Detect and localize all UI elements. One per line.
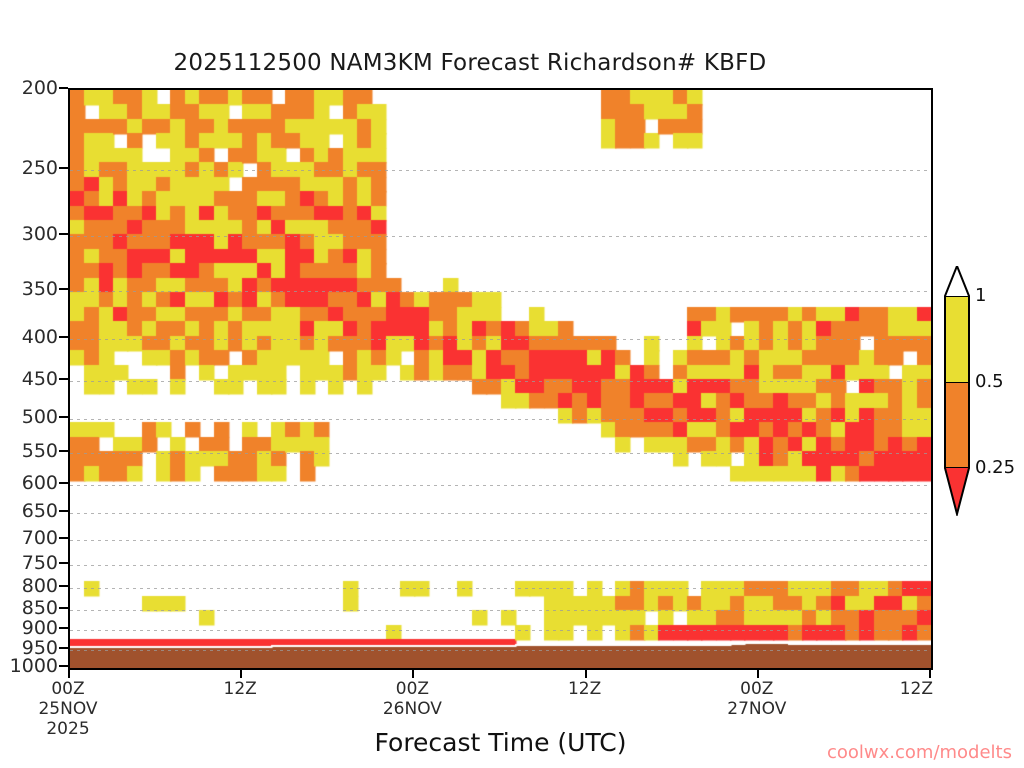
x-axis-tick-label-time: 12Z bbox=[900, 679, 933, 699]
y-axis-tick-mark bbox=[59, 562, 68, 564]
colorbar-label-1: 1 bbox=[975, 285, 986, 306]
y-axis-tick-label: 650 bbox=[22, 500, 58, 522]
x-axis-tick-mark bbox=[412, 670, 414, 678]
chart-title: 2025112500 NAM3KM Forecast Richardson# K… bbox=[0, 50, 940, 76]
x-axis-tick-mark bbox=[68, 670, 70, 678]
gridline-400 bbox=[70, 339, 931, 340]
gridline-950 bbox=[70, 650, 931, 651]
gridline-250 bbox=[70, 170, 931, 171]
colorbar-arrow-below-min bbox=[944, 468, 970, 514]
x-axis-tick-label-date: 25NOV bbox=[38, 699, 97, 719]
y-axis-tick-mark bbox=[59, 665, 68, 667]
y-axis-tick-label: 550 bbox=[22, 440, 58, 462]
x-axis-tick-mark bbox=[757, 670, 759, 678]
gridline-350 bbox=[70, 291, 931, 292]
y-axis: 2002503003504004505005506006507007508008… bbox=[0, 88, 68, 670]
x-axis-tick-label-date: 27NOV bbox=[727, 699, 786, 719]
y-axis-tick-label: 350 bbox=[22, 278, 58, 300]
y-axis-tick-label: 250 bbox=[22, 157, 58, 179]
gridline-850 bbox=[70, 610, 931, 611]
y-axis-tick-mark bbox=[59, 607, 68, 609]
gridline-600 bbox=[70, 485, 931, 486]
y-axis-tick-label: 1000 bbox=[10, 655, 58, 677]
y-axis-tick-mark bbox=[59, 482, 68, 484]
colorbar-arrow-above-max bbox=[944, 266, 970, 296]
y-axis-tick-mark bbox=[59, 585, 68, 587]
y-axis-tick-label: 450 bbox=[22, 368, 58, 390]
y-axis-tick-label: 200 bbox=[22, 77, 58, 99]
y-axis-tick-mark bbox=[59, 288, 68, 290]
x-axis-tick-label-time: 00Z bbox=[396, 679, 429, 699]
y-axis-tick-label: 600 bbox=[22, 472, 58, 494]
y-axis-tick-mark bbox=[59, 336, 68, 338]
richardson-heatmap bbox=[70, 90, 931, 668]
y-axis-tick-mark bbox=[59, 627, 68, 629]
gridline-750 bbox=[70, 565, 931, 566]
colorbar-label-0p25: 0.25 bbox=[975, 457, 1015, 478]
y-axis-tick-mark bbox=[59, 647, 68, 649]
y-axis-tick-label: 700 bbox=[22, 527, 58, 549]
y-axis-tick-label: 500 bbox=[22, 406, 58, 428]
y-axis-tick-mark bbox=[59, 510, 68, 512]
x-axis-tick-mark bbox=[929, 670, 931, 678]
gridline-550 bbox=[70, 453, 931, 454]
colorbar-legend: 10.50.25 bbox=[944, 296, 970, 468]
gridline-500 bbox=[70, 419, 931, 420]
y-axis-tick-label: 750 bbox=[22, 552, 58, 574]
y-axis-tick-mark bbox=[59, 87, 68, 89]
y-axis-tick-mark bbox=[59, 233, 68, 235]
gridline-450 bbox=[70, 381, 931, 382]
y-axis-tick-mark bbox=[59, 378, 68, 380]
plot-area bbox=[68, 88, 933, 670]
x-axis-tick-mark bbox=[240, 670, 242, 678]
colorbar-segment-yellow bbox=[944, 296, 970, 382]
y-axis-tick-label: 300 bbox=[22, 223, 58, 245]
colorbar-segment-orange bbox=[944, 382, 970, 468]
x-axis-tick-label-time: 12Z bbox=[568, 679, 601, 699]
y-axis-tick-mark bbox=[59, 537, 68, 539]
x-axis-tick-mark bbox=[585, 670, 587, 678]
y-axis-tick-mark bbox=[59, 167, 68, 169]
y-axis-tick-label: 850 bbox=[22, 597, 58, 619]
x-axis-tick-label-time: 00Z bbox=[51, 679, 84, 699]
forecast-richardson-chart: 2025112500 NAM3KM Forecast Richardson# K… bbox=[0, 0, 1024, 768]
x-axis-tick-label-date: 26NOV bbox=[383, 699, 442, 719]
gridline-800 bbox=[70, 588, 931, 589]
watermark: coolwx.com/modelts bbox=[0, 742, 1012, 763]
gridline-300 bbox=[70, 236, 931, 237]
colorbar-label-0p5: 0.5 bbox=[975, 371, 1004, 392]
y-axis-tick-label: 400 bbox=[22, 326, 58, 348]
x-axis-tick-label-time: 12Z bbox=[224, 679, 257, 699]
gridline-700 bbox=[70, 540, 931, 541]
y-axis-tick-label: 800 bbox=[22, 575, 58, 597]
y-axis-tick-mark bbox=[59, 416, 68, 418]
gridline-650 bbox=[70, 513, 931, 514]
y-axis-tick-mark bbox=[59, 450, 68, 452]
gridline-1000 bbox=[70, 668, 931, 669]
gridline-900 bbox=[70, 630, 931, 631]
x-axis-tick-label-time: 00Z bbox=[740, 679, 773, 699]
